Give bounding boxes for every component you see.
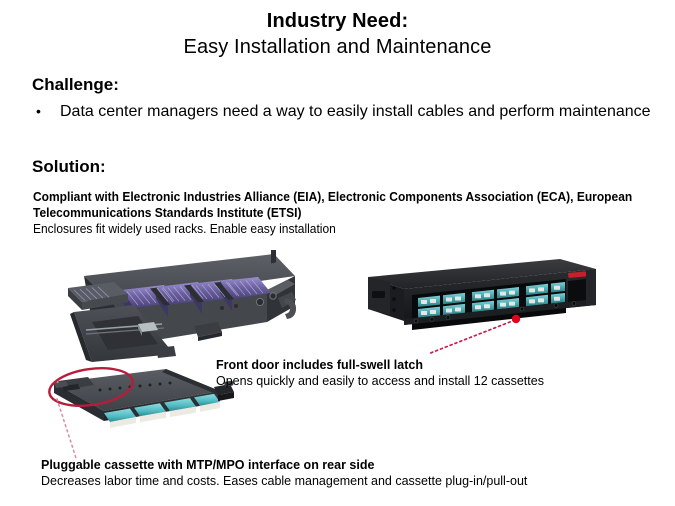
enclosure-statement: Enclosures fit widely used racks. Enable… xyxy=(33,222,638,238)
bullet-marker-icon: • xyxy=(32,100,60,123)
challenge-bullet-item: • Data center managers need a way to eas… xyxy=(32,100,656,123)
slide-title-block: Industry Need: Easy Installation and Mai… xyxy=(0,8,675,61)
page-title: Industry Need: xyxy=(0,8,675,34)
caption-cassette-body: Decreases labor time and costs. Eases ca… xyxy=(41,473,527,489)
caption-front-door-body: Opens quickly and easily to access and i… xyxy=(216,373,544,389)
leader-line-door xyxy=(420,312,530,360)
challenge-heading: Challenge: xyxy=(32,74,119,96)
caption-cassette-title: Pluggable cassette with MTP/MPO interfac… xyxy=(41,457,527,473)
solution-heading: Solution: xyxy=(32,156,106,178)
slide-canvas: Industry Need: Easy Installation and Mai… xyxy=(0,0,675,506)
caption-front-door: Front door includes full-swell latch Ope… xyxy=(216,357,544,389)
fiber-enclosure-open-door-image xyxy=(52,250,300,362)
caption-front-door-title: Front door includes full-swell latch xyxy=(216,357,544,373)
challenge-bullet-text: Data center managers need a way to easil… xyxy=(60,100,656,123)
leader-line-cassette xyxy=(48,396,94,462)
page-subtitle: Easy Installation and Maintenance xyxy=(0,34,675,61)
caption-cassette: Pluggable cassette with MTP/MPO interfac… xyxy=(41,457,527,489)
compliance-statement: Compliant with Electronic Industries All… xyxy=(33,190,638,221)
